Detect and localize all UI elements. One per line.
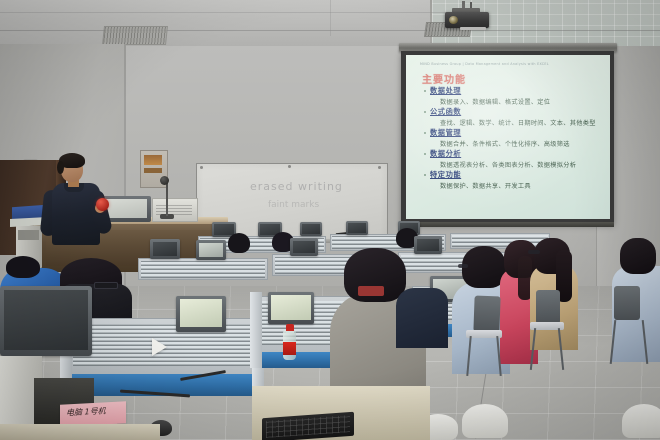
slide-title: 主要功能 bbox=[422, 71, 466, 86]
slide-detail-2: 数据合并、条件格式、个性化排序、高级筛选 bbox=[440, 139, 570, 148]
plastic-stool[interactable] bbox=[462, 404, 508, 438]
wall-panel-detail bbox=[144, 155, 162, 165]
whiteboard-screw bbox=[378, 166, 381, 169]
monitor-screen bbox=[417, 239, 439, 251]
slide-detail-4: 数据保护、数据共享、开发工具 bbox=[440, 181, 531, 190]
slide-detail-3: 数据透视表分析、各类图表分析、数据模拟分析 bbox=[440, 160, 576, 169]
projector-lens-icon bbox=[449, 16, 458, 24]
monitor-screen bbox=[302, 224, 320, 234]
slide-detail-1: 查找、逻辑、数学、统计、日期时间、文本、其他类型 bbox=[440, 118, 596, 127]
student-head bbox=[228, 233, 250, 253]
eyeglasses-icon bbox=[528, 250, 540, 254]
slide-heading-1: 公式函数 bbox=[430, 107, 461, 117]
slide-heading-0: 数据处理 bbox=[430, 86, 461, 96]
monitor-screen bbox=[153, 242, 177, 256]
presenter-hair bbox=[57, 161, 64, 174]
projector-shelf bbox=[460, 27, 486, 30]
whiteboard-erased-text: erased writing bbox=[250, 180, 330, 202]
chair-back[interactable] bbox=[614, 286, 640, 320]
projection-screen: MIND Business Group | Data Management an… bbox=[406, 55, 610, 219]
slide-bullet-marker bbox=[424, 132, 426, 134]
pc-front-panel bbox=[18, 230, 39, 240]
desk-surface bbox=[0, 424, 160, 440]
monitor-screen bbox=[180, 299, 222, 327]
bottle-cap bbox=[286, 324, 294, 331]
whiteboard-erased-text: faint marks bbox=[268, 200, 328, 212]
desk-post bbox=[250, 292, 262, 368]
lanyard bbox=[358, 286, 384, 296]
monitor-screen bbox=[293, 241, 315, 253]
chair-back[interactable] bbox=[473, 296, 500, 333]
slide-heading-2: 数据管理 bbox=[430, 128, 461, 138]
whiteboard-screw bbox=[288, 165, 291, 168]
slide-bullet-marker bbox=[424, 174, 426, 176]
monitor-screen bbox=[199, 243, 223, 257]
slide-bullet-marker bbox=[424, 153, 426, 155]
bottle-label bbox=[283, 342, 296, 355]
chair-back[interactable] bbox=[536, 290, 560, 324]
monitor-screen bbox=[214, 224, 234, 235]
slide-header-line: MIND Business Group | Data Management an… bbox=[420, 62, 549, 66]
laser-pointer-icon bbox=[96, 198, 109, 211]
wall-panel-detail bbox=[144, 168, 162, 173]
student-body bbox=[396, 288, 448, 348]
eyeglasses-icon bbox=[94, 282, 118, 289]
ceiling-seam bbox=[330, 0, 331, 36]
student-head bbox=[6, 256, 40, 278]
projection-screen-weight-bar bbox=[401, 222, 614, 227]
slide-bullet-marker bbox=[424, 111, 426, 113]
monitor-screen bbox=[271, 295, 311, 320]
plastic-stool[interactable] bbox=[622, 404, 660, 438]
paper-cone bbox=[152, 338, 167, 356]
eyeglasses-icon bbox=[458, 264, 468, 268]
student-head bbox=[620, 238, 656, 274]
monitor-screen bbox=[348, 223, 366, 233]
ceiling-seam bbox=[0, 12, 480, 13]
classroom-photo: erased writing faint marks MIND Business… bbox=[0, 0, 660, 440]
slide-heading-3: 数据分析 bbox=[430, 149, 461, 159]
microphone-icon bbox=[160, 176, 169, 185]
ceiling-vent-icon bbox=[102, 26, 168, 45]
slide-detail-0: 数据录入、数据编辑、格式设置、定位 bbox=[440, 97, 550, 106]
monitor-screen bbox=[4, 290, 88, 350]
slide-bullet-marker bbox=[424, 90, 426, 92]
slide-heading-4: 特定功能 bbox=[430, 170, 461, 180]
whiteboard-screw bbox=[200, 166, 203, 169]
desk-partition-glass bbox=[141, 261, 265, 278]
microphone-gooseneck bbox=[166, 182, 168, 216]
